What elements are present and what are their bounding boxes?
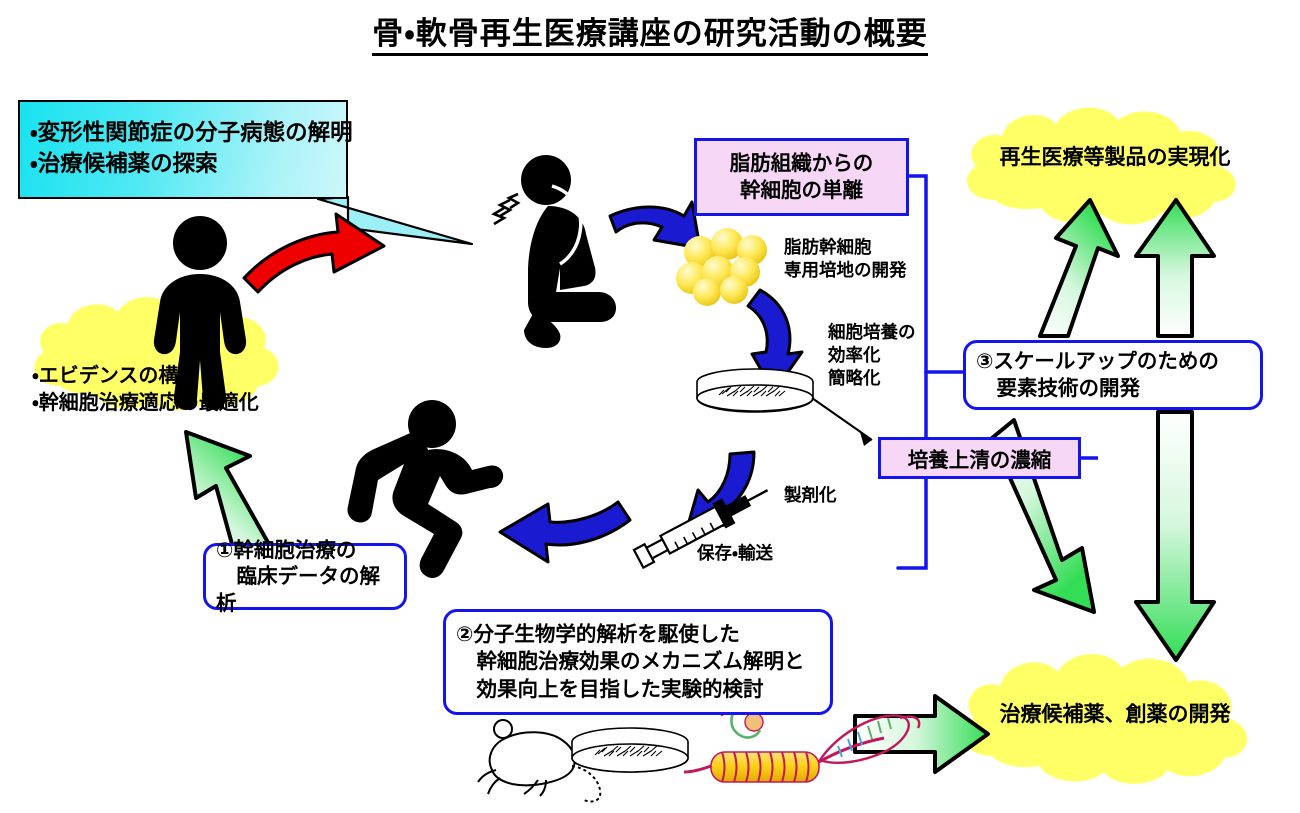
drug-development-cloud-label: 治療候補薬、創薬の開発 bbox=[960, 700, 1270, 729]
formulation-label-line1: 製剤化 bbox=[784, 485, 837, 508]
regen-cloud-line1: 再生医療等製品の実現化 bbox=[960, 143, 1270, 172]
molecular-analysis-box: ②分子生物学的解析を駆使した 幹細胞治療効果のメカニズム解明と 効果向上を目指し… bbox=[443, 609, 833, 715]
isolation-box-line2: 幹細胞の単離 bbox=[740, 177, 863, 204]
cyan-callout-line1: ・変形性関節症の分子病態の解明 bbox=[30, 118, 336, 148]
petri-dish-bottom-icon bbox=[572, 728, 688, 772]
clinical-box-line2: 臨床データの解析 bbox=[216, 563, 394, 616]
culture-efficiency-label: 細胞培養の 効率化 簡略化 bbox=[828, 322, 916, 390]
storage-transport-label: 保存・輸送 bbox=[697, 543, 773, 566]
page-title-text: 骨・軟骨再生医療講座の研究活動の概要 bbox=[372, 16, 928, 56]
medium-label-line1: 脂肪幹細胞 bbox=[784, 237, 907, 260]
medium-label-line2: 専用培地の開発 bbox=[784, 260, 907, 283]
page-title: 骨・軟骨再生医療講座の研究活動の概要 bbox=[0, 8, 1300, 53]
drug-cloud-line1: 治療候補薬、創薬の開発 bbox=[960, 700, 1270, 729]
kneeling-person-icon bbox=[521, 155, 616, 348]
concentrate-box-line1: 培養上清の濃縮 bbox=[908, 443, 1052, 473]
formulation-label: 製剤化 bbox=[784, 485, 837, 508]
evidence-cloud-label: ・エビデンスの構築 ・幹細胞治療適応の最適化 bbox=[16, 362, 322, 416]
culture-label-line1: 細胞培養の bbox=[828, 322, 916, 345]
molecular-box-line3: 効果向上を目指した実験的検討 bbox=[456, 676, 820, 703]
molecular-box-line1: ②分子生物学的解析を駆使した bbox=[456, 621, 820, 648]
blue-curved-arrow-4 bbox=[500, 502, 630, 562]
cyan-callout-box: ・変形性関節症の分子病態の解明 ・治療候補薬の探索 bbox=[18, 100, 348, 199]
clinical-data-box: ①幹細胞治療の 臨床データの解析 bbox=[203, 543, 407, 610]
diagram-canvas: 骨・軟骨再生医療講座の研究活動の概要 bbox=[0, 0, 1300, 813]
regenerative-products-cloud-label: 再生医療等製品の実現化 bbox=[960, 143, 1270, 172]
green-arrow-down-to-drug bbox=[1136, 412, 1214, 660]
green-arrow-scaleup-to-regen bbox=[1040, 200, 1118, 336]
storage-label-line1: 保存・輸送 bbox=[697, 543, 773, 566]
culture-label-line2: 効率化 bbox=[828, 345, 916, 368]
isolation-box-line1: 脂肪組織からの bbox=[730, 150, 874, 177]
isolation-box: 脂肪組織からの 幹細胞の単離 bbox=[694, 138, 909, 216]
molecular-box-line2: 幹細胞治療効果のメカニズム解明と bbox=[456, 648, 820, 675]
knee-pain-icon bbox=[494, 194, 518, 224]
evidence-cloud-line1: ・エビデンスの構築 bbox=[32, 362, 322, 389]
cyan-callout-line2: ・治療候補薬の探索 bbox=[30, 149, 336, 179]
scaleup-box-line1: ③スケールアップのための bbox=[976, 348, 1250, 375]
scaleup-box: ③スケールアップのための 要素技術の開発 bbox=[963, 340, 1263, 410]
petri-dish-icon bbox=[697, 369, 813, 412]
medium-development-label: 脂肪幹細胞 専用培地の開発 bbox=[784, 237, 907, 283]
evidence-cloud-line2: ・幹細胞治療適応の最適化 bbox=[32, 389, 322, 416]
clinical-box-line1: ①幹細胞治療の bbox=[216, 537, 394, 564]
culture-label-line3: 簡略化 bbox=[828, 368, 916, 391]
scaleup-box-line2: 要素技術の開発 bbox=[976, 375, 1250, 402]
blue-curved-arrow-1 bbox=[610, 202, 700, 248]
dish-to-concentrate-arrow bbox=[812, 398, 872, 446]
concentrate-box: 培養上清の濃縮 bbox=[878, 437, 1081, 479]
